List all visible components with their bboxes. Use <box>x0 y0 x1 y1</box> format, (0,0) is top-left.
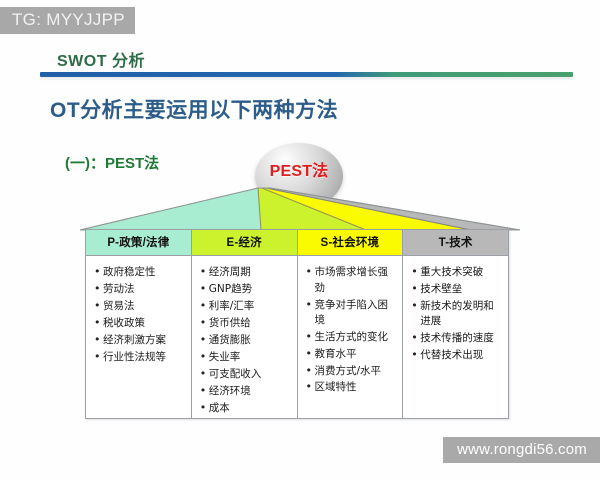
header-divider-shadow <box>40 77 573 79</box>
column-header-social: S-社会环境 <box>297 230 403 256</box>
list-item: 贸易法 <box>94 299 186 315</box>
list-item: 竞争对手陷入困境 <box>306 298 398 330</box>
list-economic: 经济周期GNP趋势利率/汇率货币供给通货膨胀失业率可支配收入经济环境成本 <box>200 265 292 417</box>
page-title: OT分析主要运用以下两种方法 <box>50 94 338 124</box>
list-item: 重大技术突破 <box>411 265 503 281</box>
list-item: 市场需求增长强劲 <box>306 265 398 297</box>
list-item: 行业性法规等 <box>94 350 186 366</box>
column-cell-political: 政府稳定性劳动法贸易法税收政策经济刺激方案行业性法规等 <box>86 256 192 419</box>
list-item: 技术传播的速度 <box>411 331 503 347</box>
list-item: 消费方式/水平 <box>306 364 398 380</box>
list-item: 新技术的发明和进展 <box>411 299 503 331</box>
telegram-tag: TG: MYYJJPP <box>0 7 135 34</box>
list-item: 劳动法 <box>94 282 186 298</box>
list-item: 政府稳定性 <box>94 265 186 281</box>
list-item: 技术壁垒 <box>411 282 503 298</box>
list-social: 市场需求增长强劲竞争对手陷入困境生活方式的变化教育水平消费方式/水平区域特性 <box>306 265 398 396</box>
list-item: 可支配收入 <box>200 367 292 383</box>
column-cell-social: 市场需求增长强劲竞争对手陷入困境生活方式的变化教育水平消费方式/水平区域特性 <box>297 256 403 419</box>
slide-canvas: TG: MYYJJPP SWOT 分析 OT分析主要运用以下两种方法 (一)：P… <box>0 0 600 480</box>
list-item: 教育水平 <box>306 347 398 363</box>
list-item: 经济周期 <box>200 265 292 281</box>
table-body-row: 政府稳定性劳动法贸易法税收政策经济刺激方案行业性法规等 经济周期GNP趋势利率/… <box>86 256 509 419</box>
list-item: 利率/汇率 <box>200 299 292 315</box>
column-header-political: P-政策/法律 <box>86 230 192 256</box>
list-item: 生活方式的变化 <box>306 330 398 346</box>
list-item: 经济环境 <box>200 384 292 400</box>
list-item: 成本 <box>200 401 292 417</box>
column-cell-technological: 重大技术突破技术壁垒新技术的发明和进展技术传播的速度代替技术出现 <box>403 256 509 419</box>
list-item: GNP趋势 <box>200 282 292 298</box>
column-cell-economic: 经济周期GNP趋势利率/汇率货币供给通货膨胀失业率可支配收入经济环境成本 <box>191 256 297 419</box>
sphere-label: PEST法 <box>255 157 343 181</box>
list-item: 货币供给 <box>200 316 292 332</box>
pyramid-roof <box>80 186 520 232</box>
list-item: 区域特性 <box>306 380 398 396</box>
list-item: 税收政策 <box>94 316 186 332</box>
method-subtitle: (一)：PEST法 <box>65 152 159 173</box>
swot-section-label: SWOT 分析 <box>57 47 145 71</box>
column-header-economic: E-经济 <box>191 230 297 256</box>
table-header-row: P-政策/法律 E-经济 S-社会环境 T-技术 <box>86 230 509 256</box>
column-header-technological: T-技术 <box>403 230 509 256</box>
pest-table: P-政策/法律 E-经济 S-社会环境 T-技术 政府稳定性劳动法贸易法税收政策… <box>85 229 509 419</box>
site-watermark: www.rongdi56.com <box>443 437 600 463</box>
list-technological: 重大技术突破技术壁垒新技术的发明和进展技术传播的速度代替技术出现 <box>411 265 503 364</box>
list-political: 政府稳定性劳动法贸易法税收政策经济刺激方案行业性法规等 <box>94 265 186 366</box>
roof-svg <box>80 186 520 232</box>
list-item: 代替技术出现 <box>411 348 503 364</box>
list-item: 经济刺激方案 <box>94 333 186 349</box>
list-item: 通货膨胀 <box>200 333 292 349</box>
list-item: 失业率 <box>200 350 292 366</box>
